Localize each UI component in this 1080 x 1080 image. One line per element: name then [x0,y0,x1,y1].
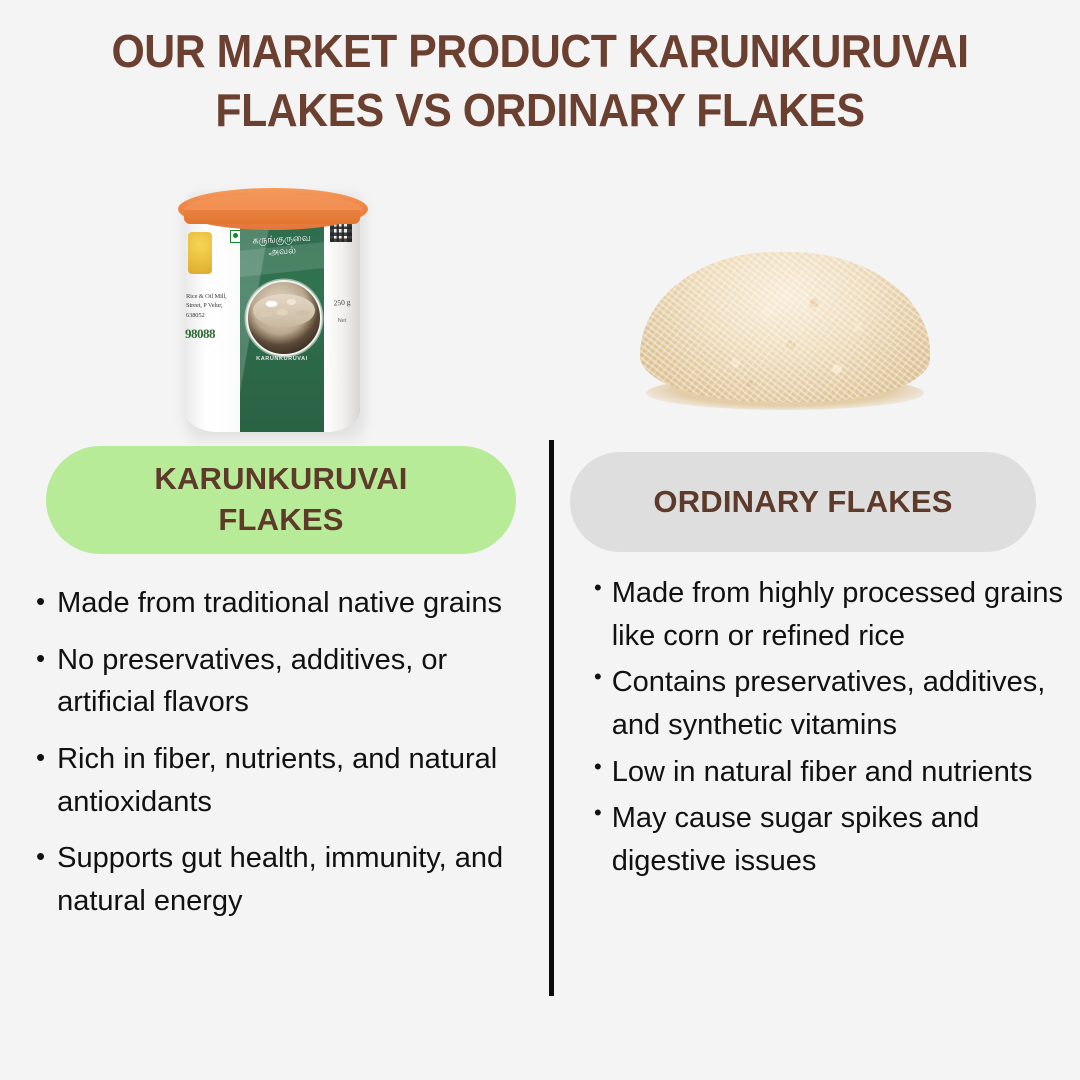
can-phone-text: 98088 [185,326,215,342]
bullet-dot-icon: • [36,582,45,620]
list-item-text: Contains preservatives, additives, and s… [612,661,1074,746]
list-item-text: Supports gut health, immunity, and natur… [57,837,536,922]
brand-logo-icon [188,232,212,274]
can-bowl-caption: KARUNKURUVAI [246,356,318,362]
bullet-dot-icon: • [594,751,602,783]
can-tamil-product-name: கருங்குருவை அவல் [241,232,322,261]
bullet-dot-icon: • [36,639,45,677]
title-line-1: OUR MARKET PRODUCT KARUNKURUVAI [94,22,987,81]
can-green-label: கருங்குருவை அவல் KARUNKURUVAI [240,206,324,432]
can-right-strip: 250 g Net [324,206,360,432]
ordinary-flakes-image [640,230,930,410]
list-item: • Rich in fiber, nutrients, and natural … [36,738,536,823]
list-item-text: No preservatives, additives, or artifici… [57,639,536,724]
bullet-dot-icon: • [594,572,602,604]
list-item: • Supports gut health, immunity, and nat… [36,837,536,922]
page-title: OUR MARKET PRODUCT KARUNKURUVAI FLAKES V… [60,22,1020,140]
ordinary-flakes-heading-pill: ORDINARY FLAKES [570,452,1036,552]
right-heading-text: ORDINARY FLAKES [653,482,952,523]
can-weight-text: 250 g [326,297,358,308]
can-address-text: Rice & Oil Mill, Street, P Velur, 638052 [186,292,240,320]
column-divider [549,440,554,996]
list-item-text: May cause sugar spikes and digestive iss… [612,797,1074,882]
list-item: • Low in natural fiber and nutrients [594,751,1074,794]
list-item: • Made from highly processed grains like… [594,572,1074,657]
list-item: • May cause sugar spikes and digestive i… [594,797,1074,882]
list-item: • Made from traditional native grains [36,582,536,625]
can-body: omefonds.in Rice & Oil Mill, Street, P V… [184,206,360,432]
list-item-text: Made from traditional native grains [57,582,536,625]
can-bowl-photo [246,280,322,356]
product-can-image: omefonds.in Rice & Oil Mill, Street, P V… [178,180,368,440]
list-item-text: Made from highly processed grains like c… [612,572,1074,657]
list-item-text: Low in natural fiber and nutrients [612,751,1074,794]
ordinary-flakes-drawbacks-list: • Made from highly processed grains like… [594,572,1074,886]
left-heading-line-2: FLAKES [154,500,407,541]
bullet-dot-icon: • [36,738,45,776]
bullet-dot-icon: • [594,797,602,829]
bullet-dot-icon: • [36,837,45,875]
title-line-2: FLAKES VS ORDINARY FLAKES [94,81,987,140]
list-item: • No preservatives, additives, or artifi… [36,639,536,724]
flakes-pile [640,252,930,402]
bullet-dot-icon: • [594,661,602,693]
list-item-text: Rich in fiber, nutrients, and natural an… [57,738,536,823]
karunkuruvai-benefits-list: • Made from traditional native grains • … [36,582,536,936]
karunkuruvai-flakes-heading-pill: KARUNKURUVAI FLAKES [46,446,516,554]
list-item: • Contains preservatives, additives, and… [594,661,1074,746]
can-neck [184,210,360,224]
left-heading-line-1: KARUNKURUVAI [154,459,407,500]
can-weight-sublabel: Net [326,318,358,324]
hero-images-row: omefonds.in Rice & Oil Mill, Street, P V… [0,170,1080,450]
